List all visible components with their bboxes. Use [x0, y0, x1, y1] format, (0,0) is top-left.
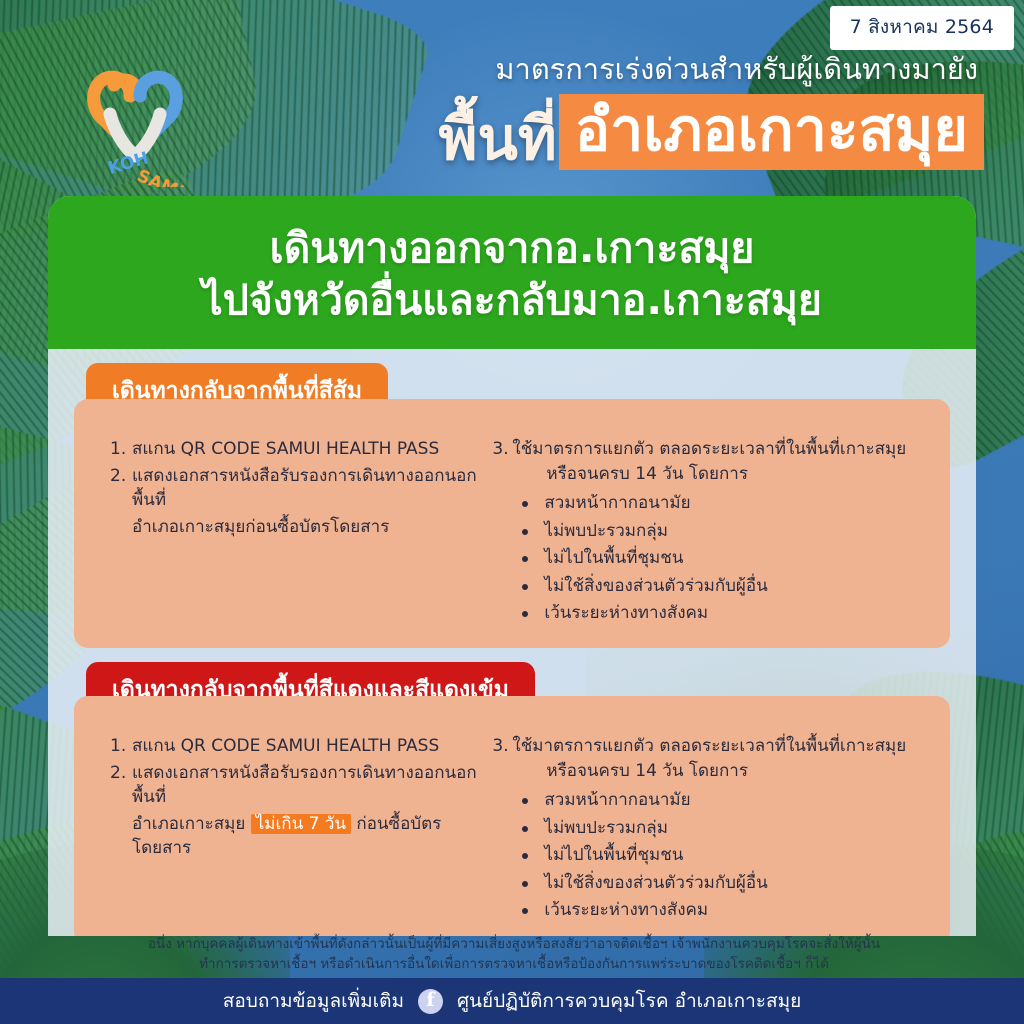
orange-bullet-list: สวมหน้ากากอนามัย ไม่พบปะรวมกลุ่ม ไม่ไปใน…	[492, 490, 928, 628]
item-number: 1.	[110, 437, 132, 462]
footer-bar: สอบถามข้อมูลเพิ่มเติม f ศูนย์ปฏิบัติการค…	[0, 978, 1024, 1024]
orange-right-column: 3. ใช้มาตรการแยกตัว ตลอดระยะเวลาที่ในพื้…	[492, 437, 928, 628]
footer-label: สอบถามข้อมูลเพิ่มเติม	[223, 986, 404, 1016]
bullet-item: ไม่ใช้สิ่งของส่วนตัวร่วมกับผู้อื่น	[514, 870, 928, 898]
bullet-item: เว้นระยะห่างทางสังคม	[514, 600, 928, 628]
green-banner-line1: เดินทางออกจากอ.เกาะสมุย	[68, 222, 956, 274]
list-item: 1. สแกน QR CODE SAMUI HEALTH PASS	[110, 437, 482, 462]
item-number: 3.	[492, 437, 512, 486]
list-item: อำเภอเกาะสมุยก่อนซื้อบัตรโดยสาร	[110, 515, 482, 540]
header-title-row: พื้นที่ อำเภอเกาะสมุย	[210, 94, 984, 170]
bullet-item: เว้นระยะห่างทางสังคม	[514, 897, 928, 925]
bullet-item: สวมหน้ากากอนามัย	[514, 490, 928, 518]
bullet-item: สวมหน้ากากอนามัย	[514, 787, 928, 815]
item-number	[110, 515, 132, 540]
item-number: 2.	[110, 761, 132, 810]
green-banner: เดินทางออกจากอ.เกาะสมุย ไปจังหวัดอื่นและ…	[48, 196, 976, 349]
section-orange-panel: 1. สแกน QR CODE SAMUI HEALTH PASS 2. แสด…	[74, 399, 950, 648]
list-item: 2. แสดงเอกสารหนังสือรับรองการเดินทางออกน…	[110, 761, 482, 810]
poster: 7 สิงหาคม 2564 KOH SAMUI มาตรการเร่งด่วน…	[0, 0, 1024, 1024]
red-bullet-list: สวมหน้ากากอนามัย ไม่พบปะรวมกลุ่ม ไม่ไปใน…	[492, 787, 928, 925]
item-number: 2.	[110, 464, 132, 513]
item-text: อำเภอเกาะสมุยก่อนซื้อบัตรโดยสาร	[132, 515, 482, 540]
header-title-prefix: พื้นที่	[439, 110, 557, 170]
item-text: ใช้มาตรการแยกตัว ตลอดระยะเวลาที่ในพื้นที…	[512, 734, 928, 783]
item-text-main: ใช้มาตรการแยกตัว ตลอดระยะเวลาที่ในพื้นที…	[512, 439, 906, 459]
red-right-column: 3. ใช้มาตรการแยกตัว ตลอดระยะเวลาที่ในพื้…	[492, 734, 928, 925]
red-left-column: 1. สแกน QR CODE SAMUI HEALTH PASS 2. แสด…	[96, 734, 482, 925]
highlight-7-days: ไม่เกิน 7 วัน	[251, 814, 351, 834]
green-banner-line2: ไปจังหวัดอื่นและกลับมาอ.เกาะสมุย	[68, 274, 956, 326]
list-item-highlighted: อำเภอเกาะสมุย ไม่เกิน 7 วัน ก่อนซื้อบัตร…	[110, 812, 482, 861]
item-text: แสดงเอกสารหนังสือรับรองการเดินทางออกนอกพ…	[132, 464, 482, 513]
section-orange-zone: เดินทางกลับจากพื้นที่สีส้ม 1. สแกน QR CO…	[48, 349, 976, 648]
item-text: สแกน QR CODE SAMUI HEALTH PASS	[132, 734, 482, 759]
footnote-line1: อนึ่ง หากบุคคลผู้เดินทางเข้าพื้นที่ดังกล…	[60, 934, 968, 954]
red-numbered-list: 1. สแกน QR CODE SAMUI HEALTH PASS 2. แสด…	[110, 734, 482, 861]
text-before-highlight: อำเภอเกาะสมุย	[132, 814, 245, 834]
item-number: 1.	[110, 734, 132, 759]
footer-page-name: ศูนย์ปฏิบัติการควบคุมโรค อำเภอเกาะสมุย	[457, 986, 801, 1016]
item-text-sub: หรือจนครบ 14 วัน โดยการ	[512, 759, 928, 784]
bullet-item: ไม่พบปะรวมกลุ่ม	[514, 815, 928, 843]
header: มาตรการเร่งด่วนสำหรับผู้เดินทางมายัง พื้…	[210, 46, 984, 170]
koh-samui-logo: KOH SAMUI	[70, 52, 200, 187]
orange-item-3: 3. ใช้มาตรการแยกตัว ตลอดระยะเวลาที่ในพื้…	[492, 437, 928, 486]
bullet-item: ไม่ไปในพื้นที่ชุมชน	[514, 842, 928, 870]
header-title-highlight: อำเภอเกาะสมุย	[559, 94, 984, 170]
date-badge: 7 สิงหาคม 2564	[830, 6, 1014, 50]
footnote: อนึ่ง หากบุคคลผู้เดินทางเข้าพื้นที่ดังกล…	[60, 934, 968, 975]
item-number: 3.	[492, 734, 512, 783]
bullet-item: ไม่พบปะรวมกลุ่ม	[514, 518, 928, 546]
item-number	[110, 812, 132, 861]
item-text-sub: หรือจนครบ 14 วัน โดยการ	[512, 462, 928, 487]
bullet-item: ไม่ใช้สิ่งของส่วนตัวร่วมกับผู้อื่น	[514, 573, 928, 601]
orange-left-column: 1. สแกน QR CODE SAMUI HEALTH PASS 2. แสด…	[96, 437, 482, 628]
item-text-main: ใช้มาตรการแยกตัว ตลอดระยะเวลาที่ในพื้นที…	[512, 736, 906, 756]
item-text: แสดงเอกสารหนังสือรับรองการเดินทางออกนอกพ…	[132, 761, 482, 810]
list-item: 2. แสดงเอกสารหนังสือรับรองการเดินทางออกน…	[110, 464, 482, 513]
list-item: 1. สแกน QR CODE SAMUI HEALTH PASS	[110, 734, 482, 759]
orange-numbered-list: 1. สแกน QR CODE SAMUI HEALTH PASS 2. แสด…	[110, 437, 482, 540]
section-red-panel: 1. สแกน QR CODE SAMUI HEALTH PASS 2. แสด…	[74, 696, 950, 936]
logo-text-samui: SAMUI	[134, 166, 199, 187]
content-card: เดินทางออกจากอ.เกาะสมุย ไปจังหวัดอื่นและ…	[48, 196, 976, 936]
header-subtitle: มาตรการเร่งด่วนสำหรับผู้เดินทางมายัง	[210, 46, 984, 92]
bullet-item: ไม่ไปในพื้นที่ชุมชน	[514, 545, 928, 573]
item-text: สแกน QR CODE SAMUI HEALTH PASS	[132, 437, 482, 462]
red-item-3: 3. ใช้มาตรการแยกตัว ตลอดระยะเวลาที่ในพื้…	[492, 734, 928, 783]
footnote-line2: ทำการตรวจหาเชื้อฯ หรือดำเนินการอื่นใดเพื…	[60, 954, 968, 974]
item-text: อำเภอเกาะสมุย ไม่เกิน 7 วัน ก่อนซื้อบัตร…	[132, 812, 482, 861]
facebook-icon[interactable]: f	[418, 989, 443, 1014]
item-text: ใช้มาตรการแยกตัว ตลอดระยะเวลาที่ในพื้นที…	[512, 437, 928, 486]
section-red-zone: เดินทางกลับจากพื้นที่สีแดงและสีแดงเข้ม 1…	[48, 648, 976, 936]
